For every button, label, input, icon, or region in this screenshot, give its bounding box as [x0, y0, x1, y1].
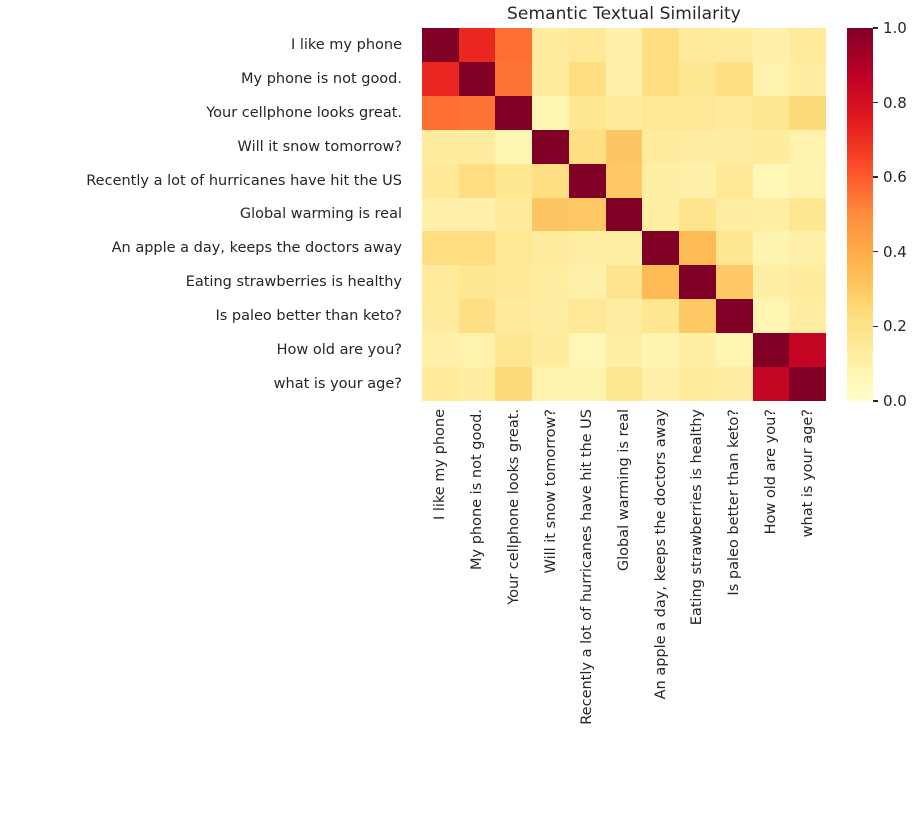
heatmap-cell [569, 333, 606, 367]
heatmap-cell [642, 265, 679, 299]
heatmap-cell [532, 231, 569, 265]
x-tick-label: Will it snow tomorrow? [543, 409, 559, 573]
x-tick-label: I like my phone [432, 409, 448, 520]
heatmap-cell [495, 28, 532, 62]
colorbar-tick-mark [873, 102, 878, 103]
heatmap-cell [422, 130, 459, 164]
heatmap-cell [422, 333, 459, 367]
colorbar-tick: 0.6 [873, 168, 907, 186]
heatmap-cell [642, 198, 679, 232]
heatmap-cell [716, 130, 753, 164]
x-tick-slot: I like my phone [422, 401, 459, 821]
heatmap-cell [753, 28, 790, 62]
heatmap-cell [495, 231, 532, 265]
heatmap-cell [459, 198, 496, 232]
heatmap-cell [753, 367, 790, 401]
heatmap-cell [532, 265, 569, 299]
x-tick-slot: Your cellphone looks great. [495, 401, 532, 821]
heatmap-cell [789, 28, 826, 62]
heatmap-cell [679, 164, 716, 198]
heatmap-cell [569, 198, 606, 232]
x-tick-label: An apple a day, keeps the doctors away [653, 409, 669, 699]
heatmap-cell [422, 96, 459, 130]
heatmap-cell [789, 198, 826, 232]
heatmap-cell [532, 367, 569, 401]
heatmap-cell [532, 130, 569, 164]
x-tick-slot: Eating strawberries is healthy [679, 401, 716, 821]
semantic-similarity-heatmap-figure: Semantic Textual Similarity I like my ph… [0, 0, 915, 826]
colorbar-tick-label: 0.2 [883, 317, 907, 335]
heatmap-cell [569, 299, 606, 333]
x-tick-label: Global warming is real [616, 409, 632, 571]
heatmap-cell [569, 96, 606, 130]
heatmap-cell [753, 231, 790, 265]
heatmap-cell [459, 299, 496, 333]
heatmap-cell [642, 96, 679, 130]
heatmap-cell [789, 130, 826, 164]
heatmap-cell [495, 164, 532, 198]
colorbar-tick-mark [873, 400, 878, 401]
heatmap-cell [495, 367, 532, 401]
heatmap-cell [753, 130, 790, 164]
heatmap-cell [679, 333, 716, 367]
heatmap-cell [569, 367, 606, 401]
x-tick-slot: Global warming is real [606, 401, 643, 821]
heatmap-cell [532, 62, 569, 96]
colorbar-tick-label: 1.0 [883, 19, 907, 37]
colorbar-tick: 0.2 [873, 317, 907, 335]
heatmap-cell [716, 265, 753, 299]
heatmap-cell [642, 333, 679, 367]
heatmap-cell [422, 164, 459, 198]
colorbar-tick-mark [873, 326, 878, 327]
x-tick-slot: An apple a day, keeps the doctors away [642, 401, 679, 821]
heatmap-cell [459, 231, 496, 265]
colorbar-tick-label: 0.4 [883, 243, 907, 261]
heatmap-cell [753, 333, 790, 367]
heatmap-cell [789, 333, 826, 367]
colorbar-tick-mark [873, 27, 878, 28]
heatmap-cell [495, 265, 532, 299]
heatmap-cell [679, 231, 716, 265]
heatmap-cell [679, 265, 716, 299]
x-tick-slot: Will it snow tomorrow? [532, 401, 569, 821]
heatmap-cell [459, 28, 496, 62]
heatmap-cell [495, 62, 532, 96]
heatmap-cell [753, 299, 790, 333]
heatmap-cell [789, 164, 826, 198]
heatmap-cell [716, 96, 753, 130]
heatmap-cell [606, 367, 643, 401]
heatmap-cell [459, 130, 496, 164]
colorbar-tick: 0.8 [873, 94, 907, 112]
heatmap-cell [753, 62, 790, 96]
x-tick-label: My phone is not good. [469, 409, 485, 570]
heatmap-cell [789, 367, 826, 401]
heatmap-cell [606, 299, 643, 333]
colorbar: 0.00.20.40.60.81.0 [847, 28, 873, 401]
heatmap-cell [642, 28, 679, 62]
heatmap-cell [789, 299, 826, 333]
heatmap-cell [569, 265, 606, 299]
x-tick-label: Recently a lot of hurricanes have hit th… [579, 409, 595, 725]
heatmap-cell [569, 130, 606, 164]
colorbar-tick: 1.0 [873, 19, 907, 37]
heatmap-cell [716, 198, 753, 232]
y-tick-label: An apple a day, keeps the doctors away [0, 231, 412, 265]
x-tick-slot: My phone is not good. [459, 401, 496, 821]
heatmap-cell [789, 231, 826, 265]
x-tick-slot: How old are you? [753, 401, 790, 821]
heatmap-cell [716, 333, 753, 367]
heatmap-cell [753, 96, 790, 130]
heatmap-cell [569, 62, 606, 96]
heatmap-cell [422, 198, 459, 232]
heatmap-cell [495, 299, 532, 333]
heatmap-cell [422, 231, 459, 265]
heatmap-cell [569, 231, 606, 265]
heatmap-cell [716, 62, 753, 96]
x-tick-label: Is paleo better than keto? [726, 409, 742, 596]
heatmap-cell [532, 299, 569, 333]
x-tick-label: How old are you? [763, 409, 779, 534]
colorbar-tick-label: 0.0 [883, 392, 907, 410]
x-tick-label: what is your age? [800, 409, 816, 537]
heatmap-cell [679, 299, 716, 333]
heatmap-cell [606, 62, 643, 96]
heatmap-grid [422, 28, 826, 401]
heatmap-cell [606, 198, 643, 232]
y-tick-label: what is your age? [0, 367, 412, 401]
heatmap-cell [422, 28, 459, 62]
heatmap-cell [716, 28, 753, 62]
y-tick-label: My phone is not good. [0, 62, 412, 96]
heatmap-cell [495, 198, 532, 232]
heatmap-cell [642, 130, 679, 164]
heatmap-cell [606, 231, 643, 265]
heatmap-cell [679, 62, 716, 96]
heatmap-cell [495, 130, 532, 164]
heatmap-cell [716, 299, 753, 333]
y-tick-label: How old are you? [0, 333, 412, 367]
heatmap-cell [532, 198, 569, 232]
heatmap-cell [716, 367, 753, 401]
heatmap-cell [606, 164, 643, 198]
heatmap-cell [642, 231, 679, 265]
colorbar-ticks: 0.00.20.40.60.81.0 [873, 28, 915, 401]
page-title: Semantic Textual Similarity [422, 4, 826, 24]
heatmap-cell [789, 265, 826, 299]
heatmap-cell [459, 265, 496, 299]
y-tick-label: Global warming is real [0, 198, 412, 232]
heatmap-cell [422, 367, 459, 401]
heatmap-cell [606, 28, 643, 62]
heatmap-cell [422, 62, 459, 96]
heatmap-cell [606, 333, 643, 367]
heatmap-cell [495, 333, 532, 367]
heatmap-cell [679, 96, 716, 130]
heatmap-cell [642, 299, 679, 333]
colorbar-tick-label: 0.8 [883, 94, 907, 112]
heatmap-cell [789, 96, 826, 130]
heatmap-cell [642, 62, 679, 96]
x-tick-label: Your cellphone looks great. [506, 409, 522, 605]
heatmap-cell [679, 367, 716, 401]
heatmap-cell [679, 130, 716, 164]
heatmap-cell [606, 130, 643, 164]
heatmap-cell [753, 198, 790, 232]
heatmap-cell [789, 62, 826, 96]
y-tick-label: Is paleo better than keto? [0, 299, 412, 333]
heatmap-cell [642, 367, 679, 401]
colorbar-tick: 0.0 [873, 392, 907, 410]
heatmap-cell [606, 96, 643, 130]
heatmap-cell [679, 198, 716, 232]
heatmap-cell [459, 62, 496, 96]
colorbar-tick: 0.4 [873, 243, 907, 261]
heatmap-cell [679, 28, 716, 62]
heatmap-cell [716, 231, 753, 265]
heatmap-cell [569, 28, 606, 62]
heatmap-cell [716, 164, 753, 198]
x-tick-label: Eating strawberries is healthy [689, 409, 705, 625]
heatmap-cell [532, 96, 569, 130]
x-tick-slot: what is your age? [789, 401, 826, 821]
heatmap-cell [422, 299, 459, 333]
y-tick-label: Will it snow tomorrow? [0, 130, 412, 164]
heatmap-cell [459, 164, 496, 198]
y-axis-tick-labels: I like my phoneMy phone is not good.Your… [0, 28, 412, 401]
y-tick-label: Eating strawberries is healthy [0, 265, 412, 299]
colorbar-tick-mark [873, 176, 878, 177]
heatmap-cell [532, 28, 569, 62]
heatmap-cell [459, 367, 496, 401]
heatmap-cell [753, 164, 790, 198]
x-tick-slot: Recently a lot of hurricanes have hit th… [569, 401, 606, 821]
heatmap-cell [569, 164, 606, 198]
colorbar-gradient [847, 28, 873, 401]
y-tick-label: Recently a lot of hurricanes have hit th… [0, 164, 412, 198]
heatmap-cell [753, 265, 790, 299]
heatmap-cell [606, 265, 643, 299]
heatmap-cell [495, 96, 532, 130]
colorbar-tick-label: 0.6 [883, 168, 907, 186]
x-tick-slot: Is paleo better than keto? [716, 401, 753, 821]
heatmap-cell [532, 333, 569, 367]
heatmap-cell [459, 96, 496, 130]
heatmap-cell [459, 333, 496, 367]
y-tick-label: I like my phone [0, 28, 412, 62]
heatmap-cell [532, 164, 569, 198]
colorbar-tick-mark [873, 251, 878, 252]
x-axis-tick-labels: I like my phoneMy phone is not good.Your… [422, 401, 826, 821]
y-tick-label: Your cellphone looks great. [0, 96, 412, 130]
heatmap-cell [422, 265, 459, 299]
heatmap-cell [642, 164, 679, 198]
